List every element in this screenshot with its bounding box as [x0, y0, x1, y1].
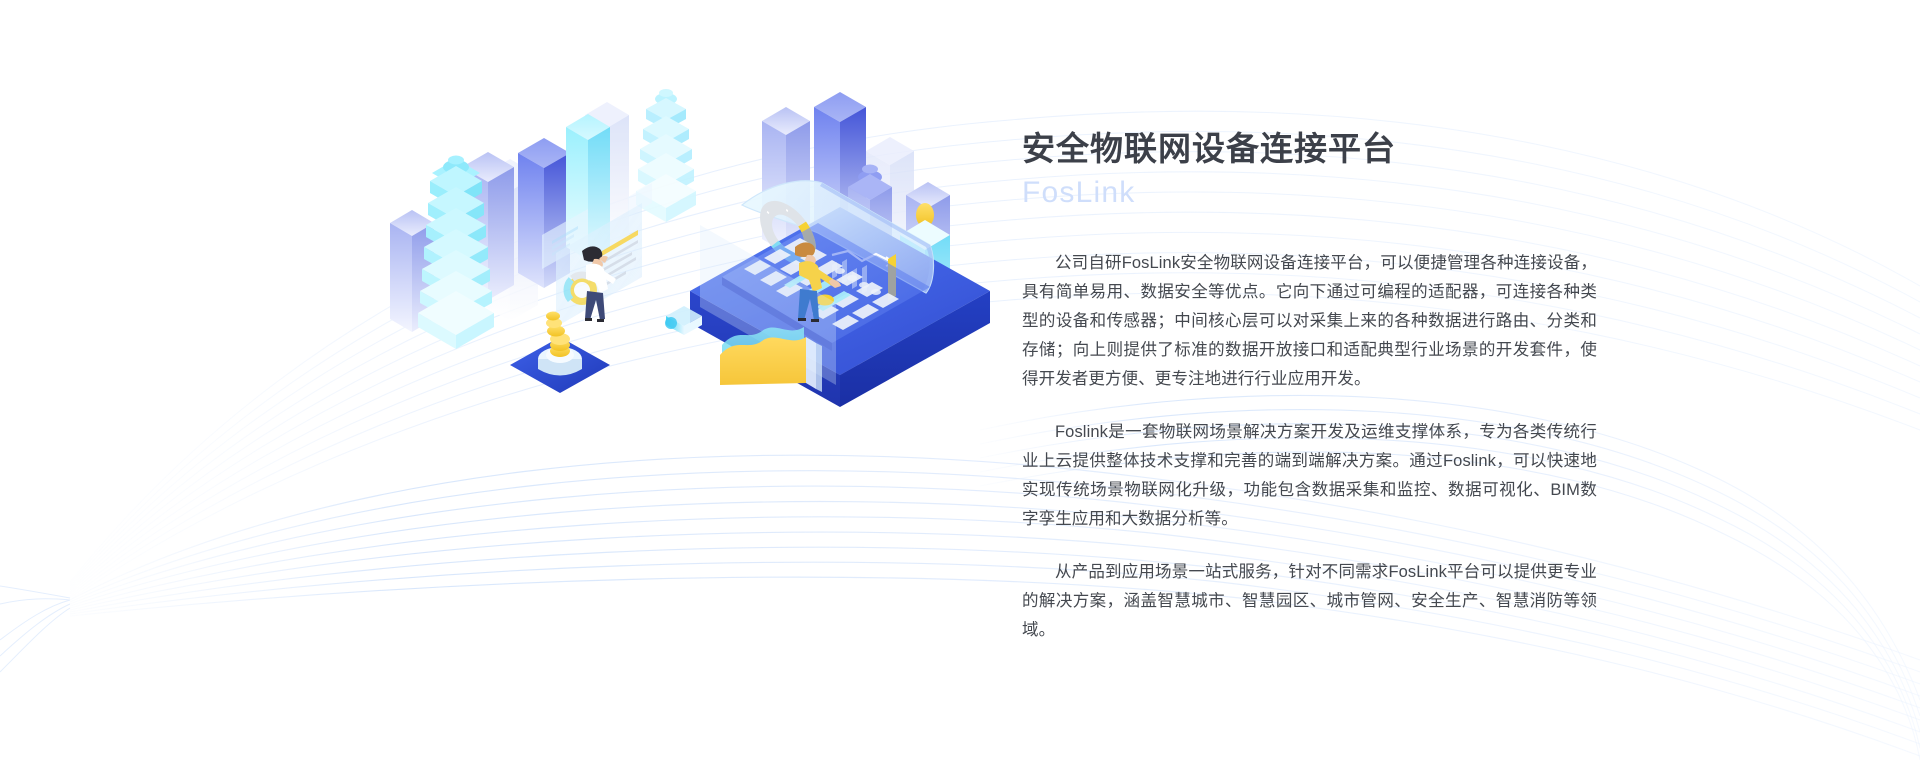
page-root: 安全物联网设备连接平台 FosLink 公司自研FosLink安全物联网设备连接… [0, 0, 1920, 760]
page-title: 安全物联网设备连接平台 [1022, 130, 1597, 169]
coin-stack-pedestal [510, 312, 610, 394]
description-paragraphs: 公司自研FosLink安全物联网设备连接平台，可以便捷管理各种连接设备，具有简单… [1022, 249, 1597, 645]
content-column: 安全物联网设备连接平台 FosLink 公司自研FosLink安全物联网设备连接… [1022, 130, 1597, 645]
isometric-platform-illustration [370, 55, 1010, 415]
paragraph-2: Foslink是一套物联网场景解决方案开发及运维支撑体系，专为各类传统行业上云提… [1022, 418, 1597, 534]
paragraph-3: 从产品到应用场景一站式服务，针对不同需求FosLink平台可以提供更专业的解决方… [1022, 558, 1597, 645]
paragraph-1: 公司自研FosLink安全物联网设备连接平台，可以便捷管理各种连接设备，具有简单… [1022, 249, 1597, 394]
product-name-subtitle: FosLink [1022, 175, 1597, 211]
